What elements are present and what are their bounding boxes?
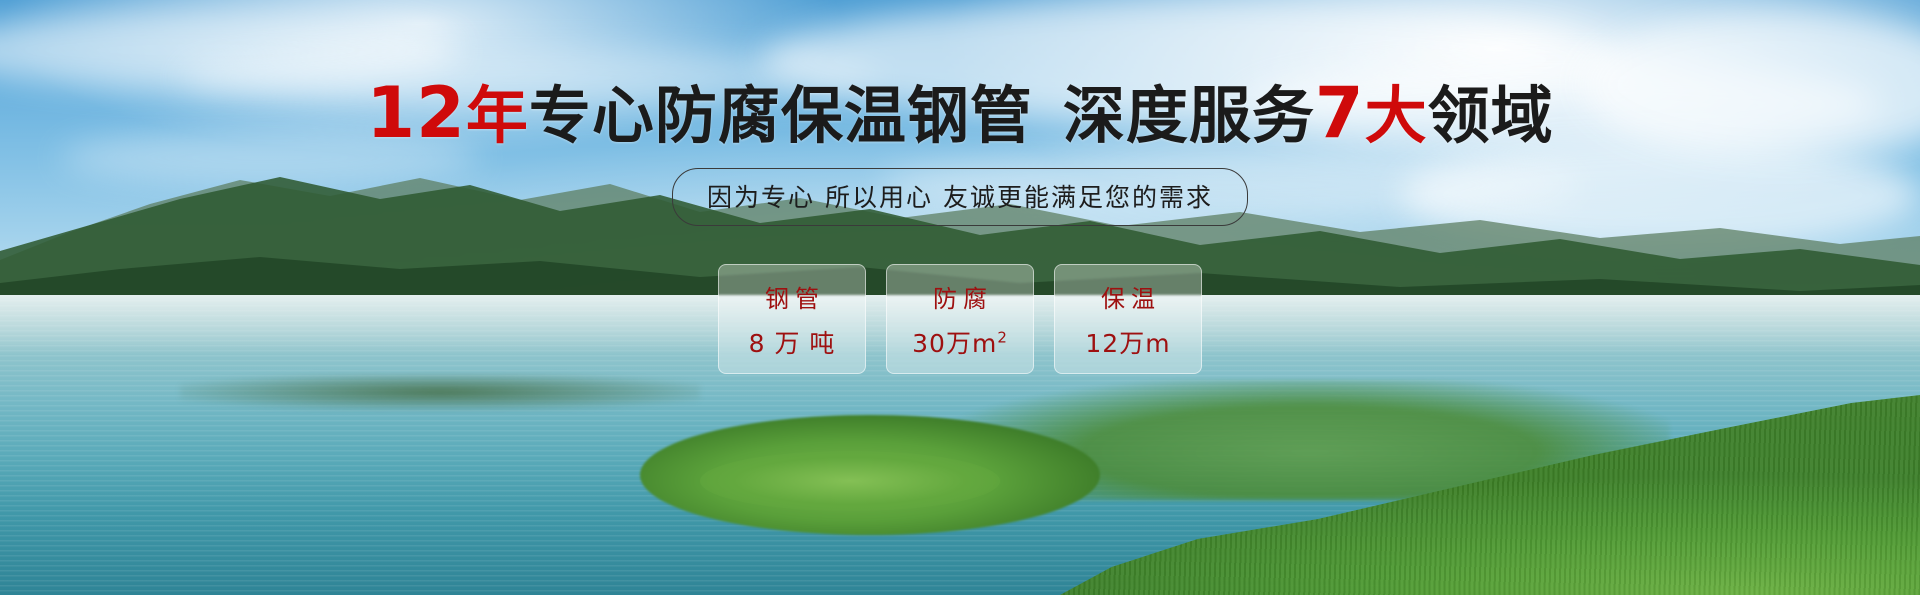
headline-highlight-number: 7	[1315, 72, 1365, 154]
stat-value-text: 8 万 吨	[749, 329, 836, 358]
headline-years-number: 12	[366, 72, 465, 154]
hero-banner: 12年专心防腐保温钢管深度服务7大领域 因为专心 所以用心 友诚更能满足您的需求…	[0, 0, 1920, 595]
banner-content: 12年专心防腐保温钢管深度服务7大领域 因为专心 所以用心 友诚更能满足您的需求…	[0, 0, 1920, 595]
headline: 12年专心防腐保温钢管深度服务7大领域	[0, 78, 1920, 148]
subtitle-container: 因为专心 所以用心 友诚更能满足您的需求	[0, 168, 1920, 226]
stat-value-text: 30万m	[912, 329, 997, 358]
headline-segment-2: 深度服务	[1063, 79, 1315, 152]
stat-card-label: 保温	[1095, 279, 1161, 314]
stat-card-label: 防腐	[927, 279, 993, 314]
stat-card: 保温 12万m	[1054, 264, 1202, 374]
stat-value-sup: 2	[997, 328, 1008, 346]
stat-card: 防腐 30万m2	[886, 264, 1034, 374]
headline-highlight-unit: 大	[1365, 79, 1428, 152]
subtitle-pill: 因为专心 所以用心 友诚更能满足您的需求	[672, 168, 1248, 226]
stat-card-value: 8 万 吨	[749, 324, 836, 360]
stat-card-value: 30万m2	[912, 324, 1008, 360]
stat-card-label: 钢管	[759, 279, 825, 314]
stat-card-list: 钢管 8 万 吨 防腐 30万m2 保温 12万m	[0, 264, 1920, 374]
headline-years-unit: 年	[466, 79, 529, 152]
stat-value-text: 12万m	[1085, 329, 1170, 358]
stat-card-value: 12万m	[1085, 324, 1170, 360]
headline-segment-3: 领域	[1428, 79, 1554, 152]
headline-segment-1: 专心防腐保温钢管	[529, 79, 1033, 152]
stat-card: 钢管 8 万 吨	[718, 264, 866, 374]
